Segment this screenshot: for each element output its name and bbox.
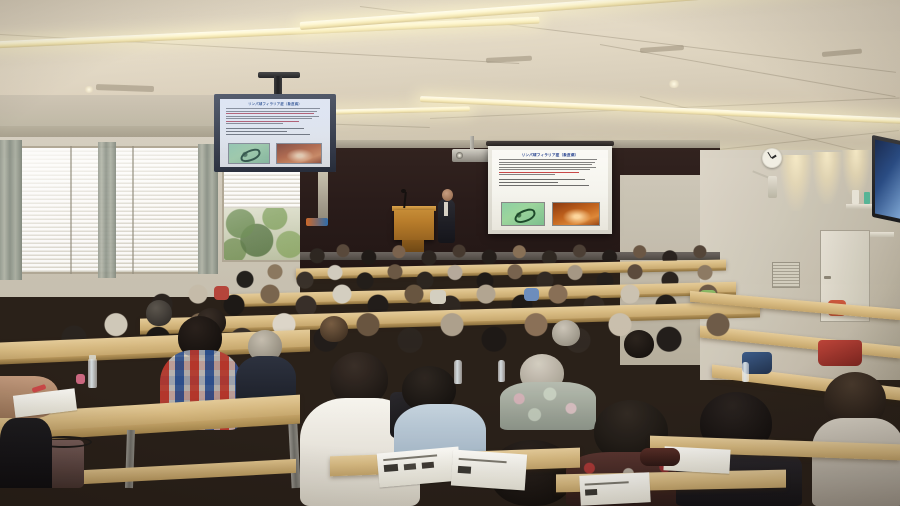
projector-lens <box>456 152 463 159</box>
handout-figure <box>422 462 434 469</box>
water-bottle[interactable] <box>454 360 462 384</box>
handout-line <box>459 458 507 463</box>
slide-photo-microfilaria <box>228 143 270 164</box>
slide-bullets-main <box>492 177 608 186</box>
presenter-shirt <box>444 202 448 216</box>
slide-photo-limb-main <box>552 202 600 226</box>
handout-line <box>383 454 437 460</box>
wall-clock <box>762 148 782 168</box>
handout-paper <box>451 449 527 490</box>
overhead-monitor-slide: リンパ球フィラリア症（象皮病） <box>220 99 330 167</box>
small-pouch <box>76 374 85 384</box>
attendee-torso <box>0 418 52 488</box>
glasses-case[interactable] <box>640 448 680 466</box>
handout-figure <box>404 463 416 470</box>
handout-line <box>585 481 629 485</box>
handout-paper <box>377 446 462 487</box>
microphone-head <box>401 189 406 193</box>
slide-body <box>220 108 330 124</box>
bottle-cap <box>89 355 96 359</box>
slide-photo-limb <box>276 143 322 164</box>
wall-vent <box>772 262 800 288</box>
handout-figure <box>585 489 597 496</box>
curtain-middle <box>98 142 116 278</box>
door-handle[interactable] <box>824 276 831 279</box>
slide-body-main <box>492 159 608 175</box>
handout-figure <box>458 466 471 474</box>
clock-minute-hand <box>767 152 772 159</box>
desk-leg <box>288 424 300 488</box>
window-mullion <box>70 146 72 274</box>
attendee-light-top <box>812 418 900 506</box>
wall-speaker <box>768 176 777 198</box>
wall-downlight <box>780 155 812 211</box>
water-bottle[interactable] <box>498 360 505 382</box>
smoke-detector-icon <box>84 86 94 93</box>
handout-paper <box>579 472 650 506</box>
lecture-hall-photo: リンパ球フィラリア症（象皮病） リンパ球フ <box>0 0 900 506</box>
projector-pole <box>470 136 474 150</box>
projected-slide: リンパ球フィラリア症（象皮病） <box>492 150 608 230</box>
right-wall-monitor <box>872 135 900 223</box>
chalk-tray-items <box>306 218 328 226</box>
shelf-item <box>852 190 859 204</box>
slide-photo-microfilaria-main <box>501 202 545 226</box>
handout-figure <box>384 464 399 472</box>
attendee-head <box>320 316 348 342</box>
water-bottle[interactable] <box>742 362 749 382</box>
window-mullion <box>132 146 134 274</box>
curtain-left <box>0 140 22 280</box>
attendee-floral-shirt <box>500 382 596 430</box>
red-bag[interactable] <box>818 340 862 366</box>
right-monitor-screen <box>875 139 900 218</box>
projection-screen: リンパ球フィラリア症（象皮病） <box>488 146 612 234</box>
slide-title-main: リンパ球フィラリア症（象皮病） <box>492 153 608 157</box>
attendee-head <box>552 320 580 346</box>
smoke-detector-icon <box>668 80 680 88</box>
presenter-head <box>442 189 453 201</box>
wall-downlight <box>812 152 842 204</box>
attendee-head <box>146 300 172 326</box>
water-bottle[interactable] <box>88 358 97 388</box>
attendee-shirt <box>214 286 229 300</box>
attendee-head <box>624 330 654 358</box>
slide-title: リンパ球フィラリア症（象皮病） <box>220 102 330 106</box>
overhead-monitor: リンパ球フィラリア症（象皮病） <box>214 94 336 172</box>
slide-bullets <box>220 126 330 135</box>
wall-column <box>318 168 328 224</box>
shelf-item <box>864 192 870 204</box>
